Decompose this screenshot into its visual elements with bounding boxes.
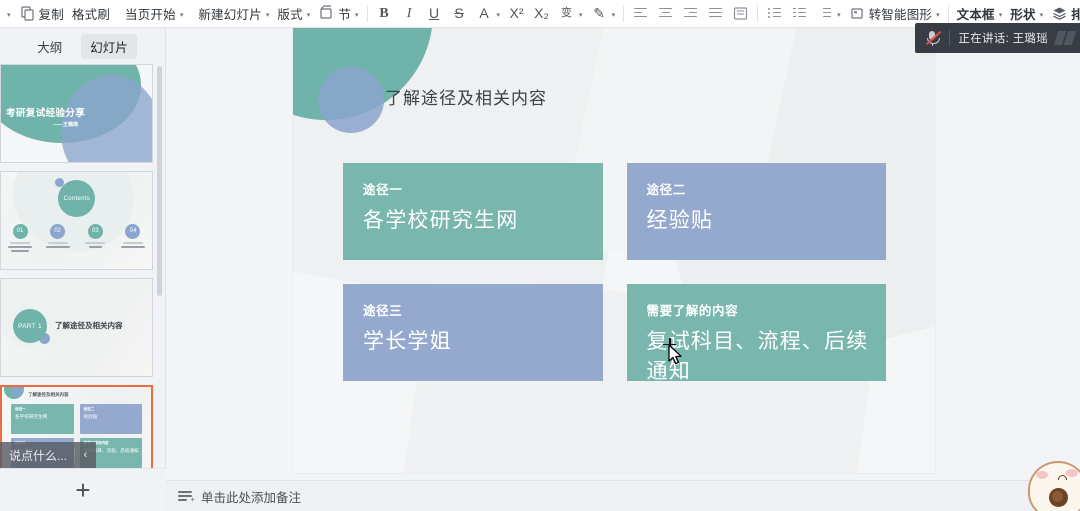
blue-circle-shape	[11, 385, 23, 397]
line-spacing-button[interactable]: ▾	[812, 2, 845, 26]
section-button[interactable]: 节 ▾	[314, 2, 362, 26]
toolbar-overflow-left[interactable]: ▾	[2, 2, 15, 26]
new-slide-label: 新建幻灯片	[198, 4, 262, 23]
new-slide-button[interactable]: 新建幻灯片 ▾	[194, 2, 273, 26]
start-from-current-button[interactable]: 当页开始 ▾	[121, 2, 187, 26]
italic-icon: I	[401, 5, 418, 22]
plus-icon: +	[75, 477, 90, 503]
thumb4-box-value: 经验贴	[84, 414, 143, 420]
thumb3-part-circle: PART 1	[13, 309, 47, 343]
content-box-4-key: 需要了解的内容	[647, 300, 887, 319]
thumb4-box-key: 途径二	[84, 407, 143, 412]
speaking-indicator[interactable]: 正在讲话: 王璐瑶	[915, 23, 1080, 53]
highlight-button[interactable]: ✎ ▾	[587, 2, 620, 26]
align-center-icon	[657, 5, 674, 22]
smartart-icon	[849, 5, 866, 22]
hamster-sticker	[1018, 455, 1080, 511]
thumb2-item-num: 02	[50, 224, 65, 239]
slide-panel: 大纲 幻灯片 考研复试经验分享 ——王璐瑶	[0, 28, 166, 511]
slide-content-grid: 途径一 各学校研究生网 途径二 经验贴 途径三 学长学姐 需要了解的内容 复试科…	[343, 163, 886, 381]
content-box-2-key: 途径二	[647, 179, 887, 198]
chevron-down-icon: ▾	[7, 11, 11, 19]
underline-button[interactable]: U	[422, 2, 447, 26]
current-slide[interactable]: 了解途径及相关内容 途径一 各学校研究生网 途径二 经验贴 途径三 学长学姐 需…	[293, 28, 935, 473]
text-box-label: 文本框	[957, 4, 995, 23]
blue-circle-shape[interactable]	[318, 67, 384, 133]
thumb1-title: 考研复试经验分享	[6, 105, 85, 119]
chevron-down-icon: ▾	[180, 11, 184, 19]
speaking-divider	[949, 30, 950, 46]
thumbnail-wrap-3: PART 1 了解途径及相关内容	[0, 278, 153, 377]
content-box-3[interactable]: 途径三 学长学姐	[343, 284, 603, 381]
bold-icon: B	[376, 5, 393, 22]
format-painter-button[interactable]: 格式刷	[68, 2, 114, 26]
content-box-3-key: 途径三	[363, 300, 603, 319]
chevron-down-icon: ▾	[307, 11, 311, 19]
thumb4-box: 途径一 各学校研究生网	[11, 404, 74, 434]
meeting-logo-icon	[1056, 31, 1074, 45]
start-from-current-label: 当页开始	[125, 4, 176, 23]
slide-canvas-area[interactable]: 了解途径及相关内容 途径一 各学校研究生网 途径二 经验贴 途径三 学长学姐 需…	[166, 28, 1080, 480]
chat-collapse-icon[interactable]: ‹	[75, 449, 96, 461]
align-center-button[interactable]	[653, 2, 678, 26]
thumb3-title: 了解途径及相关内容	[55, 320, 123, 331]
layers-icon	[1051, 5, 1068, 22]
superscript-icon: X²	[508, 5, 525, 22]
convert-to-smartart-button[interactable]: 转智能图形 ▾	[845, 2, 944, 26]
thumb2-item-line	[123, 242, 143, 244]
thumb4-box-value: 各学校研究生网	[15, 414, 74, 420]
thumb2-item-line	[48, 242, 68, 244]
thumb2-items: 01 02 03	[7, 224, 146, 252]
shape-label: 形状	[1010, 4, 1035, 23]
copy-button[interactable]: 复制	[15, 2, 68, 26]
align-right-icon	[682, 5, 699, 22]
numbered-list-icon	[791, 5, 808, 22]
thumb2-item-line	[85, 242, 105, 244]
layout-button[interactable]: 版式 ▾	[273, 2, 314, 26]
font-color-button[interactable]: A ▾	[472, 2, 505, 26]
content-box-1-value: 各学校研究生网	[363, 204, 603, 234]
italic-button[interactable]: I	[397, 2, 422, 26]
toolbar-separator-3	[757, 5, 758, 22]
content-box-1-key: 途径一	[363, 179, 603, 198]
text-box-spacing-icon	[732, 5, 749, 22]
thumb1-subtitle: ——王璐瑶	[53, 121, 78, 128]
char-transform-icon: 变	[558, 5, 575, 22]
notes-bar[interactable]: + 单击此处添加备注	[166, 480, 1080, 511]
content-box-4[interactable]: 需要了解的内容 复试科目、流程、后续通知	[627, 284, 887, 381]
content-box-3-value: 学长学姐	[363, 325, 603, 355]
align-justify-icon	[707, 5, 724, 22]
add-slide-button[interactable]: +	[0, 468, 166, 511]
chevron-down-icon: ▾	[936, 11, 940, 19]
strikethrough-icon: S	[451, 5, 468, 22]
thumb2-item: 03	[82, 224, 108, 252]
chevron-down-icon: ▾	[355, 11, 359, 19]
content-box-2-value: 经验贴	[647, 204, 887, 234]
thumb2-item-num: 03	[88, 224, 103, 239]
tab-outline[interactable]: 大纲	[28, 34, 71, 59]
thumbnail-wrap-1: 考研复试经验分享 ——王璐瑶	[0, 64, 153, 163]
thumb4-title: 了解途径及相关内容	[28, 392, 69, 398]
char-transform-button[interactable]: 变 ▾	[554, 2, 587, 26]
line-spacing-box-button[interactable]	[728, 2, 753, 26]
arrange-button[interactable]: 排列 ▾	[1047, 2, 1080, 26]
section-label: 节	[338, 4, 351, 23]
superscript-button[interactable]: X²	[504, 2, 529, 26]
tab-slides[interactable]: 幻灯片	[81, 34, 137, 59]
chat-placeholder[interactable]: 说点什么...	[0, 447, 74, 464]
add-notes-icon: +	[178, 489, 194, 503]
thumb4-box-key: 途径一	[15, 407, 74, 412]
chevron-down-icon: ▾	[497, 11, 501, 19]
toolbar-separator-4	[948, 5, 949, 22]
chevron-down-icon: ▾	[266, 11, 270, 19]
bulleted-list-button[interactable]	[762, 2, 787, 26]
panel-scrollbar[interactable]	[157, 66, 162, 296]
slide-thumbnail-list[interactable]: 考研复试经验分享 ——王璐瑶 Contents 01	[0, 64, 165, 471]
thumb2-item-text	[121, 246, 145, 248]
bold-button[interactable]: B	[372, 2, 397, 26]
thumbnail-wrap-2: Contents 01 02	[0, 171, 153, 270]
chevron-down-icon: ▾	[1040, 11, 1044, 19]
toolbar-separator-2	[623, 5, 624, 22]
thumb2-item: 01	[7, 224, 33, 252]
arrange-label: 排列	[1071, 4, 1080, 23]
underline-icon: U	[426, 5, 443, 22]
copy-icon	[19, 5, 36, 22]
slide-thumbnail-3[interactable]: PART 1 了解途径及相关内容	[0, 278, 153, 377]
subscript-icon: X₂	[533, 5, 550, 22]
thumb2-item-num: 04	[125, 224, 140, 239]
thumb2-contents-label: Contents	[64, 196, 90, 202]
thumb2-item: 04	[120, 224, 146, 252]
section-icon	[318, 5, 335, 22]
layout-label: 版式	[277, 4, 302, 23]
thumb2-item-text	[8, 246, 32, 248]
chevron-down-icon: ▾	[579, 11, 583, 19]
align-justify-button[interactable]	[703, 2, 728, 26]
align-left-button[interactable]	[628, 2, 653, 26]
mic-muted-icon	[923, 29, 941, 47]
shape-button[interactable]: 形状 ▾	[1006, 2, 1047, 26]
thumb2-item-line	[10, 242, 30, 244]
panel-tabs: 大纲 幻灯片	[0, 28, 165, 60]
thumb2-item-num: 01	[13, 224, 28, 239]
content-box-4-value: 复试科目、流程、后续通知	[647, 325, 887, 385]
slide-title[interactable]: 了解途径及相关内容	[385, 84, 547, 109]
bulleted-list-icon	[766, 5, 783, 22]
chevron-down-icon: ▾	[612, 11, 616, 19]
chevron-down-icon: ▾	[837, 11, 841, 19]
numbered-list-button[interactable]	[787, 2, 812, 26]
content-box-1[interactable]: 途径一 各学校研究生网	[343, 163, 603, 260]
font-color-icon: A	[476, 5, 493, 22]
align-right-button[interactable]	[678, 2, 703, 26]
notes-placeholder[interactable]: 单击此处添加备注	[201, 487, 301, 506]
content-box-2[interactable]: 途径二 经验贴	[627, 163, 887, 260]
smartart-label: 转智能图形	[869, 4, 933, 23]
subscript-button[interactable]: X₂	[529, 2, 554, 26]
toolbar-separator-1	[367, 5, 368, 22]
thumb2-item-text	[46, 246, 70, 248]
slide-thumbnail-2[interactable]: Contents 01 02	[0, 171, 153, 270]
speaking-label: 正在讲话: 王璐瑶	[958, 30, 1048, 46]
format-painter-label: 格式刷	[72, 4, 110, 23]
wps-presentation-window: ▾ 复制 格式刷 当页开始 ▾ 新建幻灯片 ▾ 版式 ▾	[0, 0, 1080, 511]
thumb2-item-text	[89, 246, 102, 248]
chat-input-bar[interactable]: 说点什么... ‹	[0, 442, 96, 468]
thumb2-item-text2	[11, 250, 29, 252]
copy-label: 复制	[39, 4, 64, 23]
text-box-button[interactable]: 文本框 ▾	[953, 2, 1007, 26]
slide-thumbnail-1[interactable]: 考研复试经验分享 ——王璐瑶	[0, 64, 153, 163]
chevron-down-icon: ▾	[999, 11, 1003, 19]
strikethrough-button[interactable]: S	[447, 2, 472, 26]
line-spacing-icon	[816, 5, 833, 22]
thumb2-item: 02	[45, 224, 71, 252]
align-left-icon	[632, 5, 649, 22]
highlight-icon: ✎	[591, 5, 608, 22]
thumb4-box: 途径二 经验贴	[80, 404, 143, 434]
